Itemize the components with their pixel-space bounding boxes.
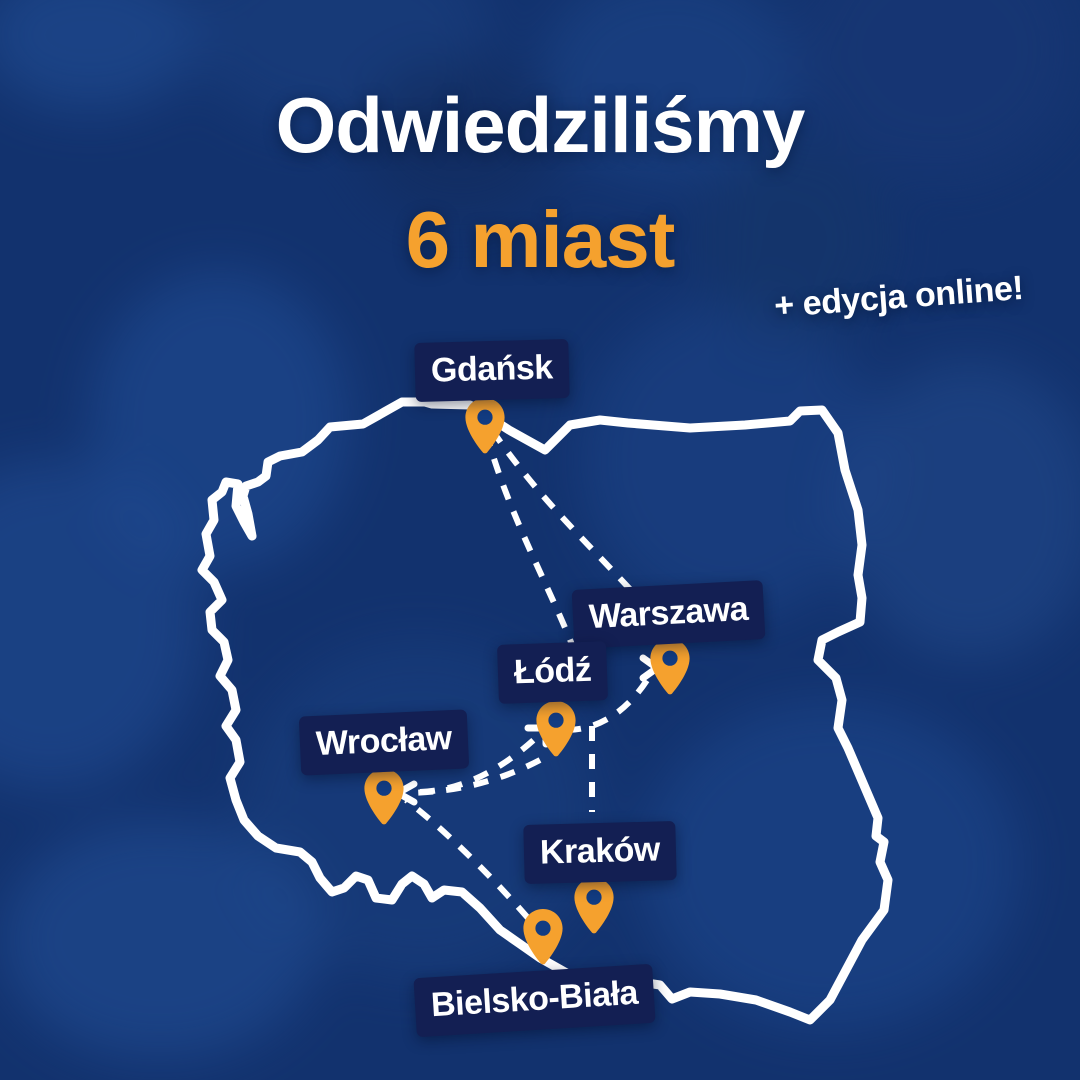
city-label-gda-sk[interactable]: Gdańsk xyxy=(414,339,569,402)
map-pin-icon[interactable] xyxy=(572,877,616,935)
city-label-wroc-aw[interactable]: Wrocław xyxy=(299,709,469,775)
city-label-warszawa[interactable]: Warszawa xyxy=(572,580,766,649)
map-pin-icon[interactable] xyxy=(534,700,578,758)
poster-canvas: Odwiedziliśmy 6 miast + edycja online! G… xyxy=(0,0,1080,1080)
page-title: Odwiedziliśmy xyxy=(0,86,1080,164)
map-pin-icon[interactable] xyxy=(521,908,565,966)
route-gdansk-lodz xyxy=(486,432,578,660)
map-pin-icon[interactable] xyxy=(648,638,692,696)
city-label-krak-w[interactable]: Kraków xyxy=(523,821,676,884)
city-count-title: 6 miast xyxy=(0,200,1080,280)
map-pin-icon[interactable] xyxy=(463,397,507,455)
city-label--d-[interactable]: Łódź xyxy=(497,641,608,704)
map-pin-icon[interactable] xyxy=(362,768,406,826)
